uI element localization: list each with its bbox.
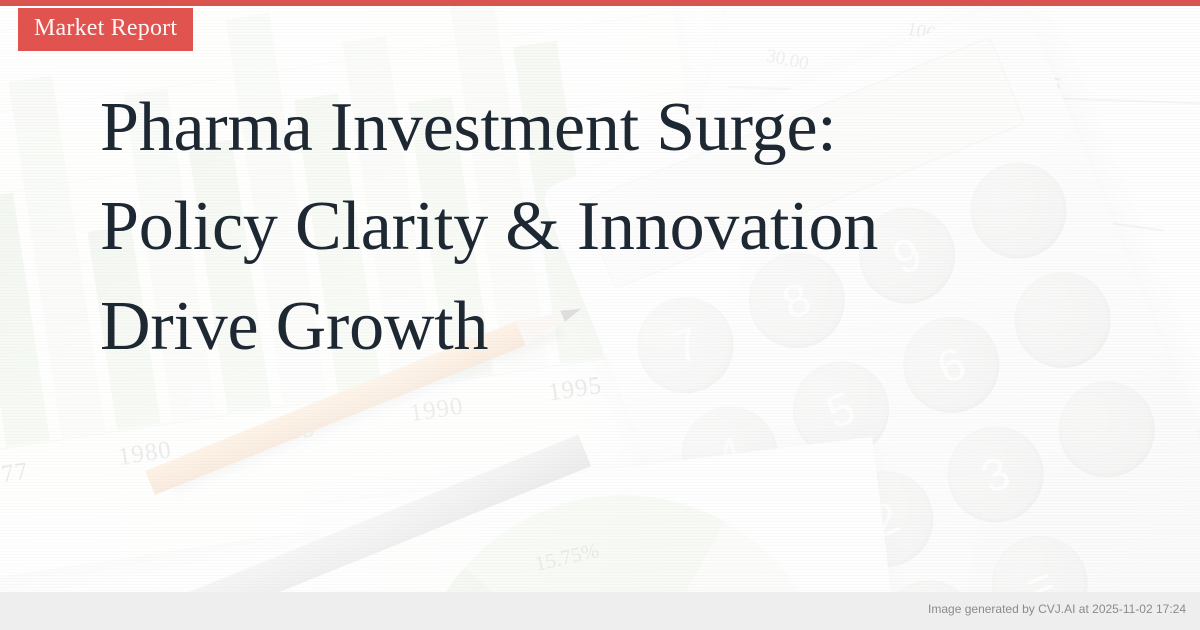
footer-bar: Image generated by CVJ.AI at 2025-11-02 … [0,592,1200,630]
page-title-line-2: Policy Clarity & Innovation [100,177,1100,276]
generation-credit: Image generated by CVJ.AI at 2025-11-02 … [928,602,1186,616]
market-report-card: 1977 1980 1985 1990 1995 30.00 106.0 106… [0,0,1200,630]
page-title: Pharma Investment Surge: Policy Clarity … [100,78,1100,376]
calculator-key: 3 [933,412,1058,537]
axis-tick-value: 30.00 [764,45,810,75]
market-report-badge: Market Report [18,8,193,51]
calculator-key-blank [1044,367,1169,492]
axis-tick-year: 1995 [546,372,604,408]
top-accent-rule [0,0,1200,6]
axis-tick-year: 1977 [0,458,30,494]
page-title-line-1: Pharma Investment Surge: [100,78,1100,177]
page-title-line-3: Drive Growth [100,277,1100,376]
